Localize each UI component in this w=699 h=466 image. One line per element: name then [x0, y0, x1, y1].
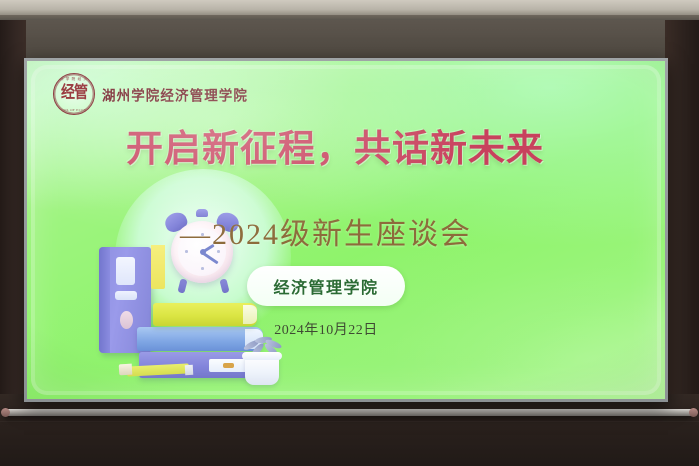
plant-pot-rim	[242, 352, 282, 360]
seal-ring-bottom-text: SCHOOL OF ECONOMICS AND MANAGEMENT	[54, 108, 94, 112]
pencil-ferrule	[185, 365, 194, 375]
slide-date: 2024年10月22日	[27, 319, 665, 339]
presentation-slide: 湖 州 学 院 经 济 管 理 经管 SCHOOL OF ECONOMICS A…	[27, 61, 665, 399]
logo-lockup: 湖 州 学 院 经 济 管 理 经管 SCHOOL OF ECONOMICS A…	[53, 73, 248, 115]
book-purple-accent	[223, 363, 234, 368]
pencil-tip	[119, 364, 133, 376]
headline-block: 开启新征程，共话新未来	[27, 129, 665, 168]
wall-lower	[0, 394, 699, 466]
meeting-room-scene: 湖 州 学 院 经 济 管 理 经管 SCHOOL OF ECONOMICS A…	[0, 0, 699, 466]
university-seal-icon: 湖 州 学 院 经 济 管 理 经管 SCHOOL OF ECONOMICS A…	[53, 73, 95, 115]
projection-screen: 湖 州 学 院 经 济 管 理 经管 SCHOOL OF ECONOMICS A…	[24, 58, 668, 402]
department-badge: 经济管理学院	[247, 266, 404, 306]
seal-ring-top-text: 湖 州 学 院 经 济 管 理	[54, 77, 94, 82]
screen-bar-cap-right	[689, 408, 698, 417]
badge-wrapper: 经济管理学院	[27, 266, 665, 306]
wall-upper	[0, 20, 699, 60]
screen-weight-bar	[4, 409, 694, 416]
ceiling	[0, 0, 699, 16]
screen-bar-cap-left	[1, 408, 10, 417]
organization-name: 湖州学院经济管理学院	[102, 84, 248, 105]
slide-title: 开启新征程，共话新未来	[27, 129, 643, 168]
slide-subtitle: —2024级新生座谈会	[27, 209, 665, 253]
wall-seam	[0, 421, 699, 422]
seal-core-text: 经管	[61, 86, 87, 103]
